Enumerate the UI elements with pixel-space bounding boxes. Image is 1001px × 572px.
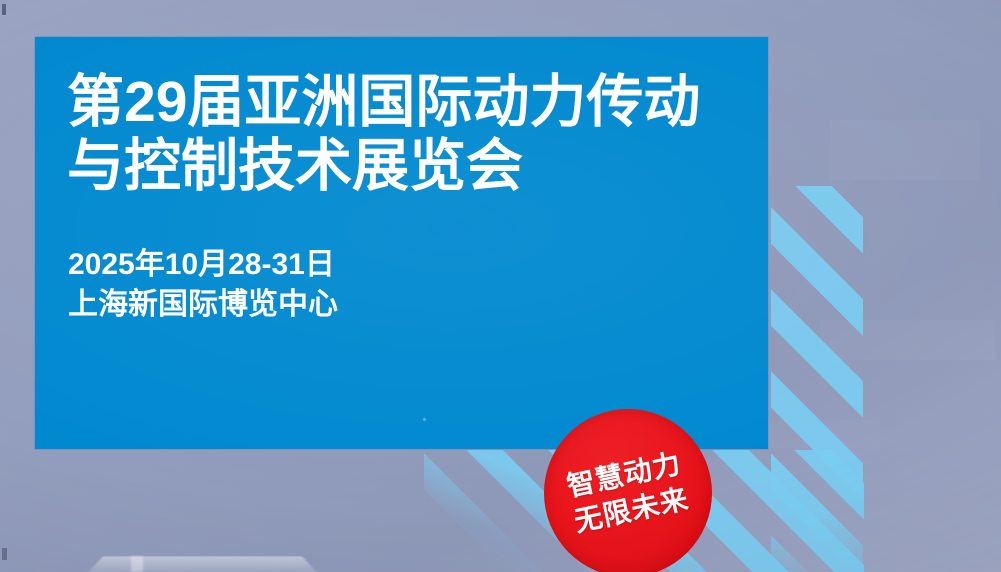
poster-headline: 第29届亚洲国际动力传动 与控制技术展览会 — [67, 70, 747, 199]
foreground-object-blur — [86, 556, 320, 572]
corner-mark-top-left — [2, 4, 6, 15]
headline-line-1: 第29届亚洲国际动力传动 — [67, 70, 747, 134]
poster-canvas: 第29届亚洲国际动力传动 与控制技术展览会 2025年10月28-31日 上海新… — [0, 0, 1001, 572]
foreground-object-detail — [131, 556, 143, 572]
event-details: 2025年10月28-31日 上海新国际博览中心 — [68, 245, 338, 324]
headline-line-2: 与控制技术展览会 — [67, 134, 747, 198]
red-circular-seal-badge: 智慧动力 无限未来 — [544, 409, 712, 572]
panel-speck — [423, 418, 426, 421]
seal-slogan: 智慧动力 无限未来 — [564, 445, 693, 540]
event-date: 2025年10月28-31日 — [68, 245, 338, 285]
background-block-upper-right — [830, 120, 980, 180]
blue-title-panel: 第29届亚洲国际动力传动 与控制技术展览会 2025年10月28-31日 上海新… — [35, 37, 768, 449]
corner-mark-bottom-left — [2, 548, 7, 560]
event-venue: 上海新国际博览中心 — [68, 285, 338, 325]
